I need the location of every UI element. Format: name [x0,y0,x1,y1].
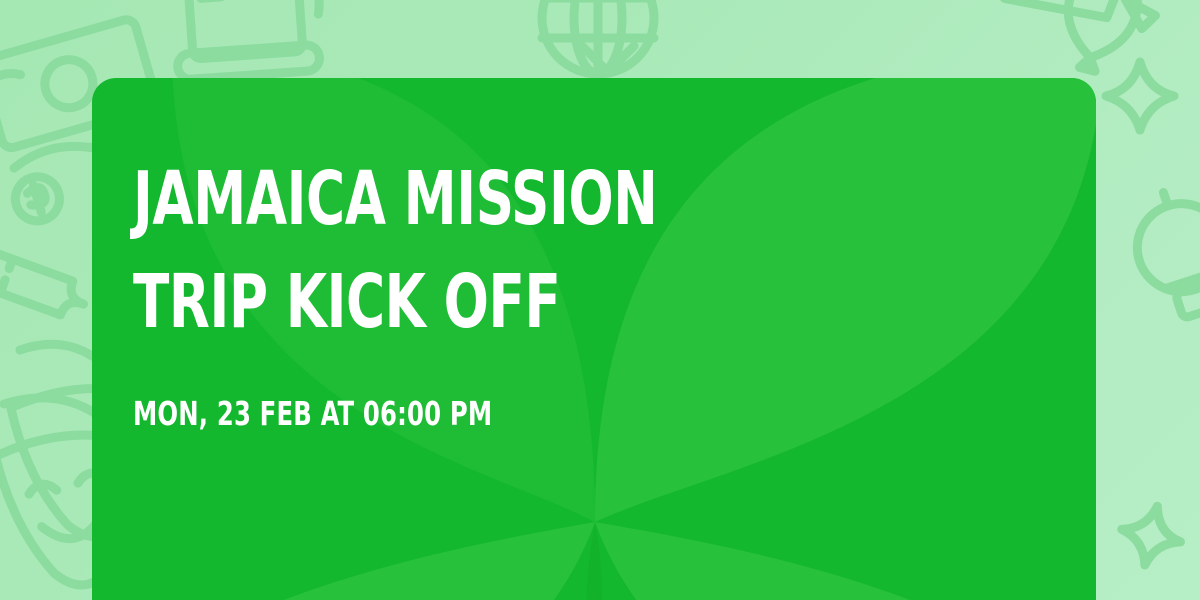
petal-lower-left [92,522,595,600]
event-datetime: Mon, 23 Feb at 06:00 PM [133,394,492,434]
event-card[interactable]: Jamaica Mission Trip Kick Off Mon, 23 Fe… [92,78,1096,600]
confetti-sparkle-icon [1116,500,1187,571]
event-banner: Jamaica Mission Trip Kick Off Mon, 23 Fe… [0,0,1200,600]
hot-air-balloon-icon [1122,179,1200,326]
ticket-icon [0,240,90,321]
petal-lower-right [595,522,1096,600]
sparkle-star-icon [1106,62,1174,130]
event-title: Jamaica Mission Trip Kick Off [133,148,757,354]
podium-microphone-icon [169,0,324,80]
